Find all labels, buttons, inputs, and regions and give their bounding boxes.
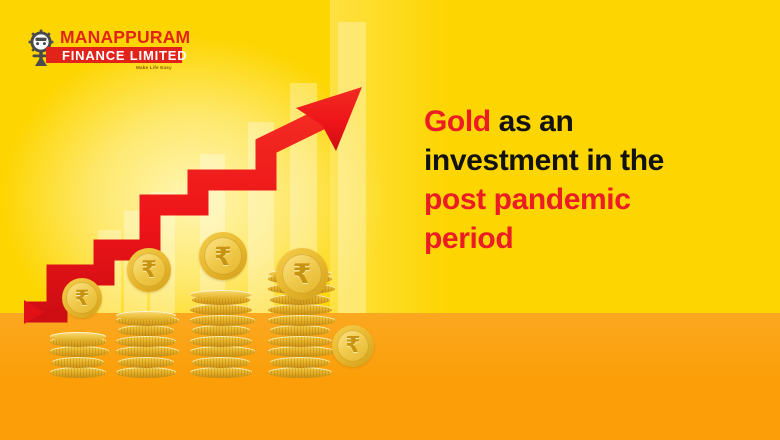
logo-line2: FINANCE LIMITED: [62, 48, 187, 63]
headline-line-4: period: [424, 219, 754, 258]
rupee-symbol: ₹: [345, 335, 360, 357]
headline-line1-rest: as an: [491, 105, 574, 138]
logo-tagline: Make Life Easy: [136, 65, 172, 70]
coin-disc: [268, 336, 332, 347]
rupee-symbol: ₹: [293, 261, 312, 288]
rupee-symbol: ₹: [141, 259, 157, 282]
coin-disc: [270, 325, 330, 336]
loose-rupee-coin: ₹: [332, 325, 374, 367]
headline: Gold as an investment in the post pandem…: [424, 102, 754, 258]
rupee-symbol: ₹: [214, 244, 231, 269]
promo-banner: ₹₹₹₹₹: [0, 0, 780, 440]
rupee-coin: ₹: [276, 248, 328, 300]
headline-line-3: post pandemic: [424, 180, 754, 219]
coin-disc: [268, 367, 332, 378]
headline-line-2: investment in the: [424, 141, 754, 180]
coin-disc: [268, 346, 335, 357]
coin-disc: [270, 357, 330, 368]
headline-highlight-gold: Gold: [424, 105, 491, 138]
coin-disc: [268, 304, 332, 315]
coin-disc: [268, 315, 335, 326]
rupee-symbol: ₹: [75, 288, 90, 309]
headline-line-1: Gold as an: [424, 102, 754, 141]
brand-logo[interactable]: MANAPPURAM FINANCE LIMITED Make Life Eas…: [24, 27, 182, 72]
logo-line1: MANAPPURAM: [60, 27, 190, 48]
